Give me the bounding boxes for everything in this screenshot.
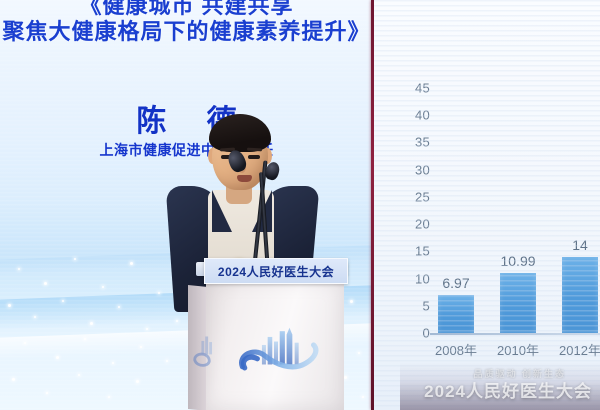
x-axis-tick-label: 2010年: [497, 340, 539, 359]
podium-sign-text: 2024人民好医生大会: [218, 263, 334, 280]
mouth: [237, 175, 252, 182]
podium-logo-secondary-icon: [190, 332, 224, 370]
y-axis-tick-label: 30: [402, 162, 430, 177]
y-axis-tick-label: 0: [402, 326, 430, 341]
bar-chart: 0510152025303540456.972008年10.992010年142…: [374, 0, 600, 410]
chart-slide-panel: 0510152025303540456.972008年10.992010年142…: [374, 0, 600, 410]
chart-bar: [500, 273, 536, 333]
y-axis-tick-label: 15: [402, 244, 430, 259]
chart-bar-value-label: 14: [572, 237, 588, 253]
chart-bar-value-label: 6.97: [442, 275, 469, 291]
y-axis-tick-label: 10: [402, 271, 430, 286]
chart-x-axis: [430, 333, 600, 335]
chart-bar: [562, 257, 598, 333]
chart-bar-value-label: 10.99: [500, 253, 535, 269]
y-axis-tick-label: 45: [402, 81, 430, 96]
y-axis-tick-label: 5: [402, 298, 430, 313]
conference-photo: 《健康城市 共建共享 聚焦大健康格局下的健康素养提升》 陈 德 上海市健康促进中…: [0, 0, 600, 410]
slide-title-line-2: 聚焦大健康格局下的健康素养提升》: [0, 14, 373, 46]
y-axis-tick-label: 40: [402, 108, 430, 123]
x-axis-tick-label: 2008年: [435, 340, 477, 359]
y-axis-tick-label: 35: [402, 135, 430, 150]
chart-bar: [438, 295, 474, 333]
y-axis-tick-label: 20: [402, 217, 430, 232]
x-axis-tick-label: 2012年: [559, 340, 600, 359]
podium-logo-icon: [232, 322, 324, 384]
podium-name-sign: 2024人民好医生大会: [204, 258, 348, 284]
eye-right: [248, 155, 260, 159]
y-axis-tick-label: 25: [402, 189, 430, 204]
hair: [209, 114, 271, 152]
